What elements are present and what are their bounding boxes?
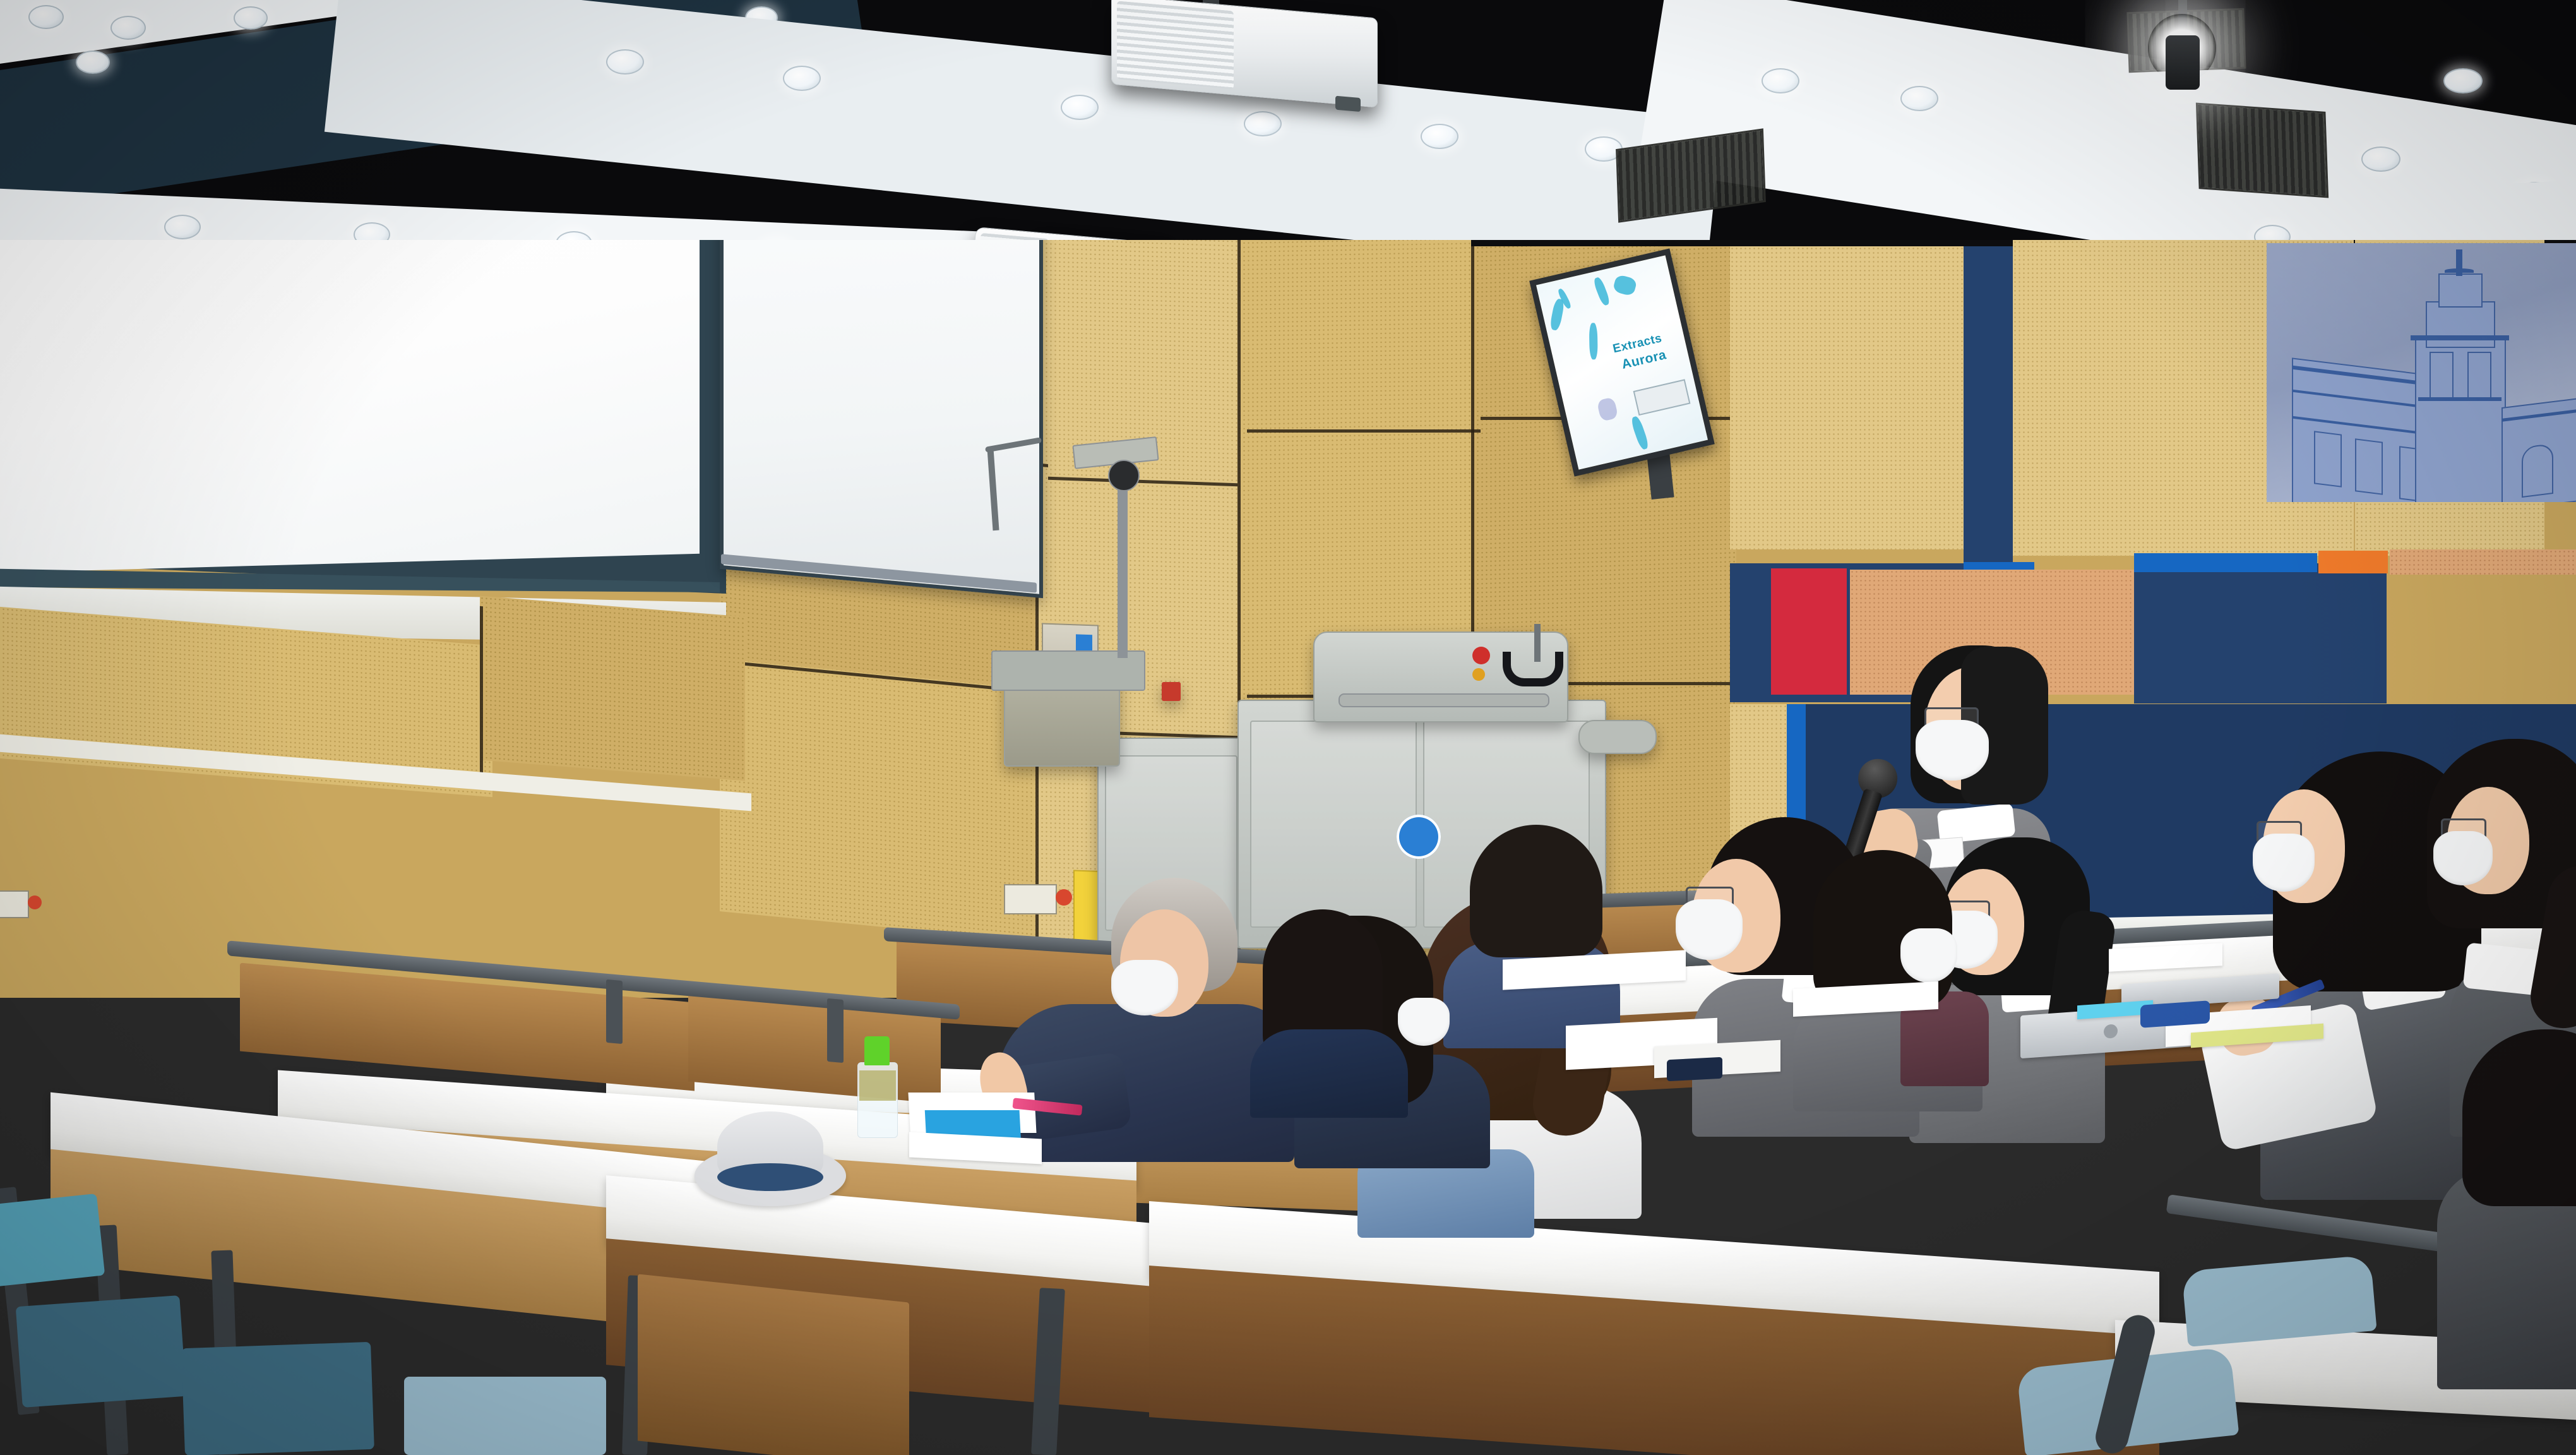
desk-rail-post xyxy=(827,998,844,1063)
downlight xyxy=(1762,68,1799,93)
track-spotlight xyxy=(2166,0,2216,82)
blue-sticker xyxy=(1076,634,1092,651)
poster-brushstroke xyxy=(1630,416,1650,451)
podium-status-light xyxy=(1472,668,1485,681)
downlight xyxy=(1421,124,1458,149)
mondrian-panel-tan xyxy=(1730,246,1964,549)
projection-screen[interactable] xyxy=(0,240,700,573)
seated-student-left xyxy=(1263,884,1414,1074)
face-mask xyxy=(2253,834,2315,892)
lecture-hall-photo: Extracts Aurora xyxy=(0,0,2576,1455)
power-socket[interactable] xyxy=(0,890,29,918)
chair-back[interactable] xyxy=(638,1274,909,1455)
wall-dado-panel xyxy=(480,596,745,781)
building-illustration-panel xyxy=(2267,243,2576,502)
hair xyxy=(2462,1029,2576,1206)
seat-cushion[interactable] xyxy=(0,1194,105,1288)
mondrian-panel-peach xyxy=(2390,549,2576,575)
podium-handle xyxy=(1339,693,1549,707)
downlight xyxy=(76,51,110,74)
downlight xyxy=(1900,86,1938,111)
face-mask xyxy=(1111,960,1178,1015)
seat-cushion[interactable] xyxy=(404,1377,606,1455)
podium-cable xyxy=(1503,652,1563,686)
seated-student-far-right xyxy=(2443,1036,2576,1389)
whiteboard[interactable] xyxy=(720,240,1043,598)
mondrian-panel-navy-strip xyxy=(1964,246,2013,562)
poster-brushstroke xyxy=(1597,397,1619,421)
downlight xyxy=(110,16,146,40)
top xyxy=(1250,1029,1408,1118)
podium-stop-button[interactable] xyxy=(1472,647,1490,664)
downlight xyxy=(234,6,268,30)
phone[interactable] xyxy=(2140,1000,2210,1028)
podium-rail xyxy=(1578,720,1657,754)
downlight xyxy=(164,215,201,239)
downlight xyxy=(1244,111,1282,136)
phone[interactable] xyxy=(1667,1057,1722,1082)
face-mask xyxy=(2433,831,2493,885)
downlight xyxy=(2361,147,2400,172)
emergency-button[interactable] xyxy=(28,895,42,909)
downlight xyxy=(1061,95,1099,120)
face-mask xyxy=(1900,928,1957,983)
mondrian-panel-red xyxy=(1771,568,1847,695)
downlight xyxy=(2443,68,2483,93)
downlight xyxy=(783,66,821,91)
cart-latch xyxy=(1162,682,1181,701)
poster-brushstroke xyxy=(1592,276,1611,306)
poster-brushstroke xyxy=(1613,274,1638,297)
seat-cushion[interactable] xyxy=(16,1295,187,1408)
seat-cushion[interactable] xyxy=(181,1342,374,1455)
hvac-vent xyxy=(2196,102,2329,198)
overhead-projector-lens xyxy=(1108,460,1140,491)
water-bottle[interactable] xyxy=(857,1062,898,1138)
panel-seam xyxy=(1247,429,1481,433)
fedora-hat[interactable] xyxy=(695,1111,846,1206)
downlight xyxy=(606,49,644,75)
poster-button[interactable] xyxy=(1633,379,1691,416)
mondrian-panel-cobalt xyxy=(2134,553,2317,572)
desk-rail-post xyxy=(606,979,623,1044)
poster-brushstroke xyxy=(1589,323,1598,359)
mondrian-panel-navy xyxy=(2134,563,2387,704)
panel-seam xyxy=(480,606,483,777)
face-mask xyxy=(1916,720,1989,781)
seated-student-burgundy xyxy=(1780,853,1989,1105)
mondrian-panel-orange xyxy=(2318,551,2388,573)
downlight xyxy=(28,5,64,29)
